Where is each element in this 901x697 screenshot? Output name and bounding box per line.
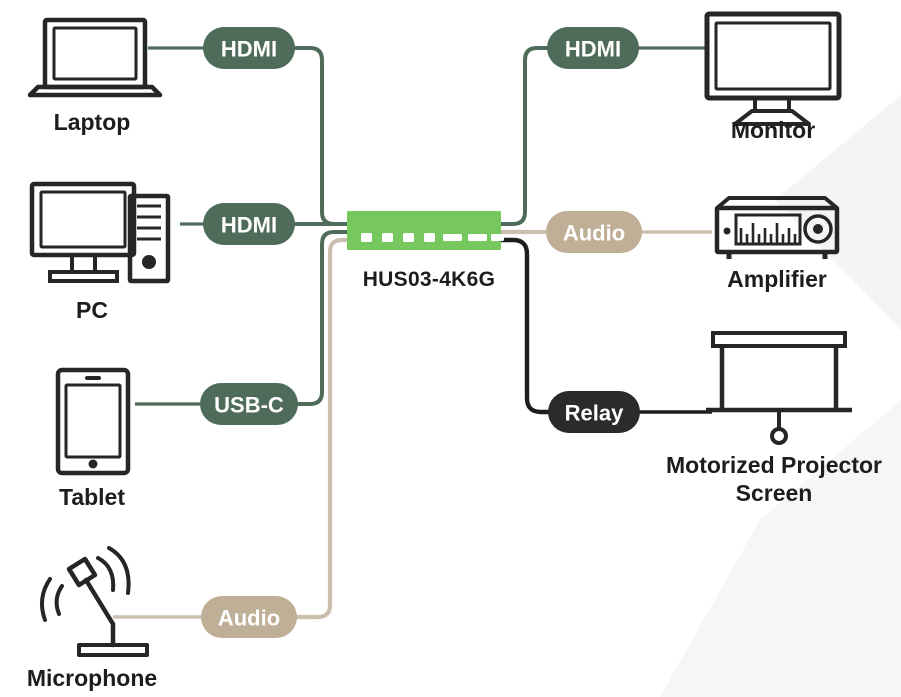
tablet-icon	[58, 370, 128, 473]
amplifier-icon	[717, 198, 837, 259]
pill-amplifier-audio-label: Audio	[563, 221, 625, 246]
pill-monitor-hdmi[interactable]: HDMI	[547, 27, 639, 69]
microphone-label: Microphone	[27, 665, 157, 691]
cable-hub-to-relay	[500, 240, 552, 412]
hub-device[interactable]	[347, 211, 504, 250]
pill-microphone-audio[interactable]: Audio	[201, 596, 297, 638]
pill-tablet-usbc[interactable]: USB-C	[200, 383, 298, 425]
diagram-canvas: HUS03-4K6G Laptop PC Tablet	[0, 0, 901, 697]
desktop-pc-icon	[32, 184, 168, 281]
pill-pc-hdmi-label: HDMI	[221, 213, 277, 238]
pc-label: PC	[76, 297, 108, 323]
monitor-icon	[707, 14, 839, 124]
hub-label: HUS03-4K6G	[363, 268, 496, 291]
cable-laptop-hdmi-to-hub	[293, 48, 348, 224]
background-shading	[660, 95, 901, 697]
pill-laptop-hdmi-label: HDMI	[221, 37, 277, 62]
amplifier-label: Amplifier	[727, 266, 827, 292]
monitor-label: Monitor	[731, 117, 815, 143]
projector-screen-label-line2: Screen	[736, 480, 813, 506]
projector-screen-icon	[706, 333, 852, 443]
connection-diagram: HUS03-4K6G Laptop PC Tablet	[0, 0, 901, 697]
cable-tablet-usbc-to-hub	[293, 232, 348, 404]
hub-output-ports	[443, 234, 504, 241]
pill-monitor-hdmi-label: HDMI	[565, 37, 621, 62]
pill-projector-relay[interactable]: Relay	[548, 391, 640, 433]
pill-amplifier-audio[interactable]: Audio	[546, 211, 642, 253]
pill-laptop-hdmi[interactable]: HDMI	[203, 27, 295, 69]
projector-screen-label-line1: Motorized Projector	[666, 452, 882, 478]
laptop-label: Laptop	[54, 109, 131, 135]
microphone-icon	[42, 548, 147, 655]
pill-tablet-usbc-label: USB-C	[214, 393, 284, 418]
pill-microphone-audio-label: Audio	[218, 606, 280, 631]
hub-body	[347, 211, 501, 250]
cable-hub-to-monitor-hdmi	[500, 48, 550, 224]
tablet-label: Tablet	[59, 484, 125, 510]
laptop-icon	[30, 20, 160, 95]
pill-projector-relay-label: Relay	[565, 401, 624, 426]
pill-pc-hdmi[interactable]: HDMI	[203, 203, 295, 245]
